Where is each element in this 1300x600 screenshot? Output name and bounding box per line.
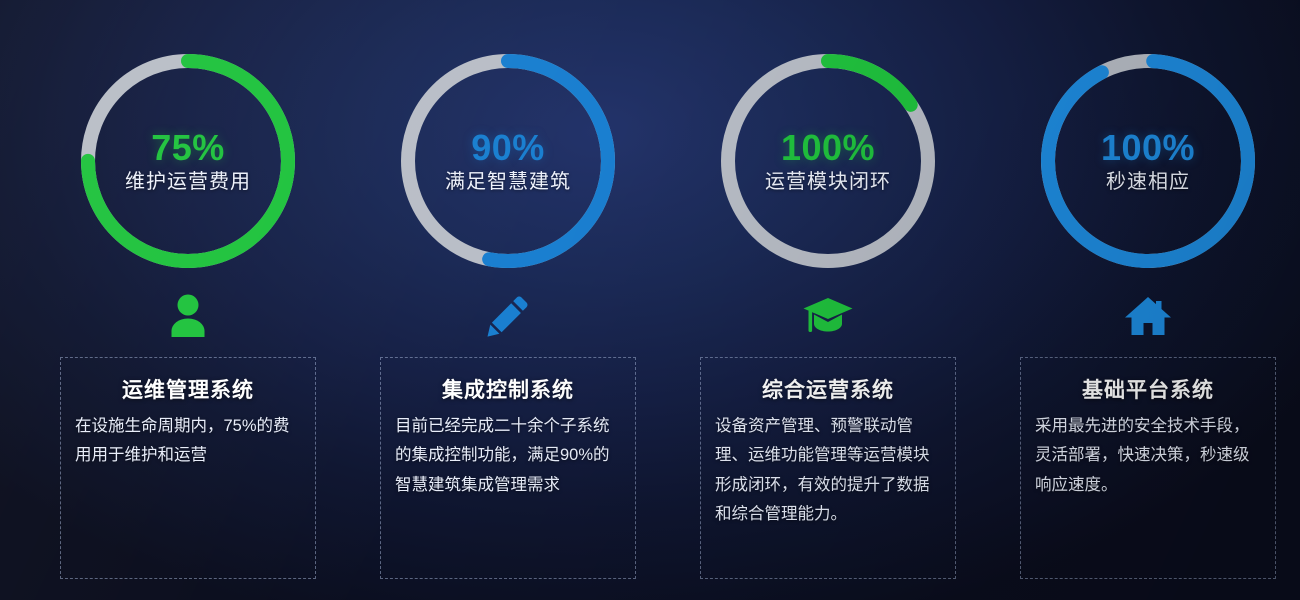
home-icon [1113, 288, 1183, 344]
ring-percent-4: 100% [1101, 130, 1195, 166]
ring-center-content-1: 75% 维护运营费用 [75, 48, 301, 274]
ring-percent-2: 90% [471, 130, 545, 166]
card-title-4: 基础平台系统 [1035, 374, 1261, 404]
metric-column-1: 75% 维护运营费用 运维管理系统 在设施生命周期内，75%的费用用于维护和运营 [28, 0, 348, 600]
metric-column-4: 100% 秒速相应 基础平台系统 采用最先进的安全技术手段，灵活部署，快速决策，… [988, 0, 1300, 600]
card-body-4: 采用最先进的安全技术手段，灵活部署，快速决策，秒速级响应速度。 [1035, 412, 1261, 500]
info-card-1: 运维管理系统 在设施生命周期内，75%的费用用于维护和运营 [60, 357, 316, 579]
ring-label-4: 秒速相应 [1106, 172, 1190, 192]
ring-label-3: 运营模块闭环 [765, 172, 891, 192]
graduation-cap-icon-svg [802, 295, 854, 337]
donut-ring-3: 100% 运营模块闭环 [715, 48, 941, 274]
card-title-3: 综合运营系统 [715, 374, 941, 404]
card-body-2: 目前已经完成二十余个子系统的集成控制功能，满足90%的智慧建筑集成管理需求 [395, 412, 621, 500]
ring-percent-3: 100% [781, 130, 875, 166]
ring-label-2: 满足智慧建筑 [445, 172, 571, 192]
user-icon [153, 288, 223, 344]
metric-column-3: 100% 运营模块闭环 综合运营系统 设备资产管理、预警联动管理、运维功能管理等… [668, 0, 988, 600]
donut-ring-4: 100% 秒速相应 [1035, 48, 1261, 274]
ring-label-1: 维护运营费用 [125, 172, 251, 192]
card-title-2: 集成控制系统 [395, 374, 621, 404]
home-icon-svg [1124, 294, 1172, 338]
card-body-3: 设备资产管理、预警联动管理、运维功能管理等运营模块形成闭环，有效的提升了数据和综… [715, 412, 941, 529]
metric-column-2: 90% 满足智慧建筑 集成控制系统 目前已经完成二十余个子系统的集成控制功能，满… [348, 0, 668, 600]
card-title-1: 运维管理系统 [75, 374, 301, 404]
info-card-3: 综合运营系统 设备资产管理、预警联动管理、运维功能管理等运营模块形成闭环，有效的… [700, 357, 956, 579]
graduation-cap-icon [793, 288, 863, 344]
card-body-1: 在设施生命周期内，75%的费用用于维护和运营 [75, 412, 301, 471]
pencil-icon [473, 288, 543, 344]
ring-center-content-2: 90% 满足智慧建筑 [395, 48, 621, 274]
info-card-4: 基础平台系统 采用最先进的安全技术手段，灵活部署，快速决策，秒速级响应速度。 [1020, 357, 1276, 579]
user-icon-svg [166, 293, 210, 339]
ring-center-content-3: 100% 运营模块闭环 [715, 48, 941, 274]
infographic-canvas: 75% 维护运营费用 运维管理系统 在设施生命周期内，75%的费用用于维护和运营… [0, 0, 1300, 600]
donut-ring-2: 90% 满足智慧建筑 [395, 48, 621, 274]
donut-ring-1: 75% 维护运营费用 [75, 48, 301, 274]
pencil-icon-svg [485, 293, 531, 339]
info-card-2: 集成控制系统 目前已经完成二十余个子系统的集成控制功能，满足90%的智慧建筑集成… [380, 357, 636, 579]
ring-percent-1: 75% [151, 130, 225, 166]
ring-center-content-4: 100% 秒速相应 [1035, 48, 1261, 274]
